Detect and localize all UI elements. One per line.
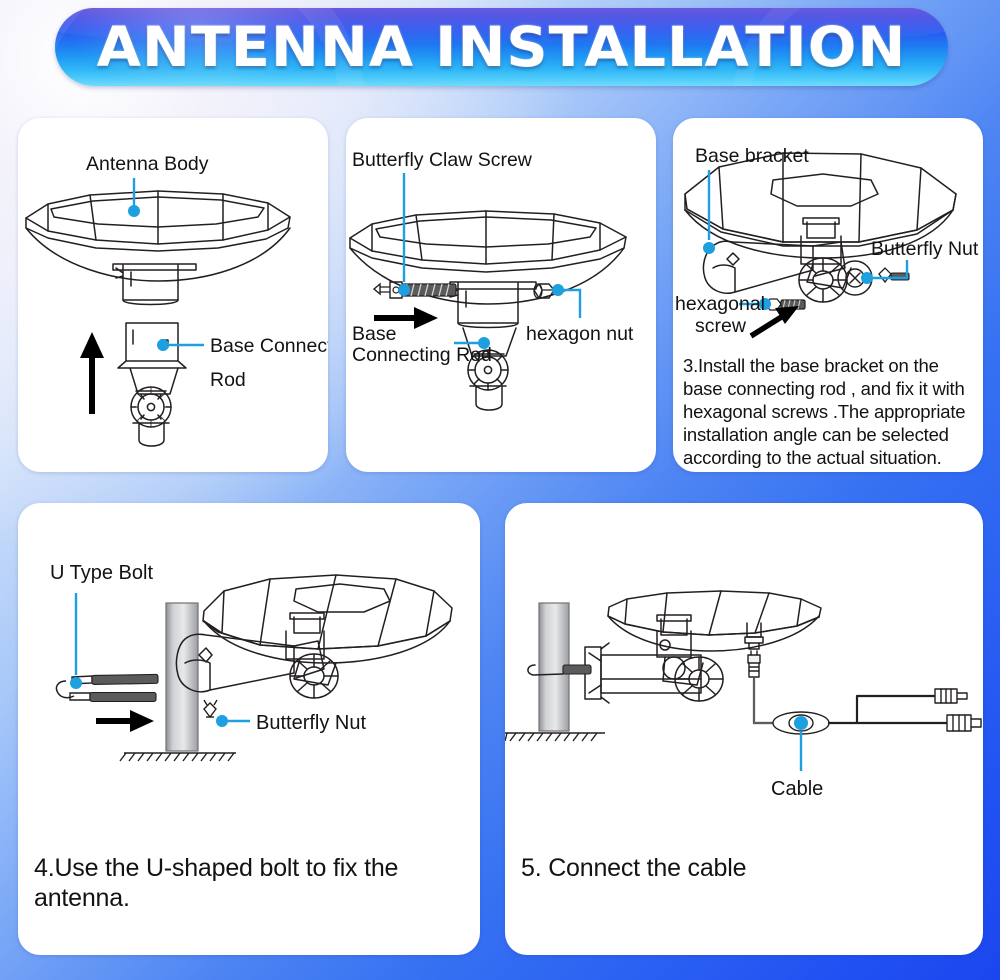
step-4-illustration: U Type Bolt Butterfly Nut xyxy=(18,503,480,853)
step-card-4: U Type Bolt Butterfly Nut 4.Use the U-sh… xyxy=(18,503,480,955)
butterfly-claw-screw-part xyxy=(374,282,456,298)
step-card-2: Butterfly Claw Screw hexagon nut Base Co… xyxy=(346,118,656,472)
step-5-caption: 5. Connect the cable xyxy=(521,853,973,883)
label-butterfly-nut: Butterfly Nut xyxy=(256,712,366,734)
mast-pole-part xyxy=(166,603,198,751)
step-card-1: Antenna Body Base Connecting Rod 1.Insta… xyxy=(18,118,328,472)
step-card-3: Base bracket Butterfly Nut hexagonal scr… xyxy=(673,118,983,472)
label-u-type-bolt: U Type Bolt xyxy=(50,562,153,584)
label-connecting-rod: Connecting Rod xyxy=(352,344,492,366)
callout-hexagon-nut xyxy=(552,284,580,318)
label-butterfly-claw-screw: Butterfly Claw Screw xyxy=(352,149,533,171)
step-2-caption: 2.Turn the base connecting rod After ali… xyxy=(360,470,646,472)
up-arrow-icon xyxy=(80,332,104,414)
label-hexagonal: hexagonal xyxy=(675,293,765,315)
step-3-illustration: Base bracket Butterfly Nut hexagonal scr… xyxy=(673,118,983,358)
label-screw: screw xyxy=(695,315,747,337)
right-arrow-icon xyxy=(96,710,154,732)
ground-hatch xyxy=(120,753,236,761)
ground-hatch xyxy=(505,733,605,741)
butterfly-nut-part xyxy=(879,266,909,282)
label-cable: Cable xyxy=(771,778,823,800)
step-1-illustration: Antenna Body Base Connecting Rod xyxy=(18,118,328,468)
callout-butterfly-nut xyxy=(216,715,250,727)
step-card-5: Cable 5. Connect the cable xyxy=(505,503,983,955)
u-type-bolt-part xyxy=(56,674,158,701)
callout-base-connecting-rod xyxy=(157,339,204,351)
butterfly-nut-part xyxy=(204,700,217,717)
callout-base-bracket xyxy=(703,170,715,254)
step-5-illustration: Cable xyxy=(505,503,983,853)
callout-u-type-bolt xyxy=(70,593,82,689)
step-2-illustration: Butterfly Claw Screw hexagon nut Base Co… xyxy=(346,118,656,468)
step-3-caption: 3.Install the base bracket on the base c… xyxy=(683,354,977,469)
label-base-connecting: Base Connecting xyxy=(210,335,328,357)
coax-cable-part xyxy=(748,651,981,734)
label-rod: Rod xyxy=(210,369,246,391)
title-banner-background: ANTENNA INSTALLATION xyxy=(55,8,948,86)
callout-cable xyxy=(794,716,808,771)
label-antenna-body: Antenna Body xyxy=(86,153,209,175)
page-title: ANTENNA INSTALLATION xyxy=(55,8,948,86)
callout-butterfly-claw-screw xyxy=(398,173,410,296)
hexagon-nut-part xyxy=(534,284,554,298)
label-hexagon-nut: hexagon nut xyxy=(526,323,634,345)
step-1-caption: 1.Install the base connecting rod into t… xyxy=(32,470,318,472)
title-banner: ANTENNA INSTALLATION xyxy=(55,8,948,86)
step-4-caption: 4.Use the U-shaped bolt to fix the anten… xyxy=(34,853,470,913)
label-butterfly-nut: Butterfly Nut xyxy=(871,238,979,260)
label-base: Base xyxy=(352,323,396,345)
label-base-bracket: Base bracket xyxy=(695,145,809,167)
installation-guide-page: ANTENNA INSTALLATION xyxy=(0,0,1000,980)
